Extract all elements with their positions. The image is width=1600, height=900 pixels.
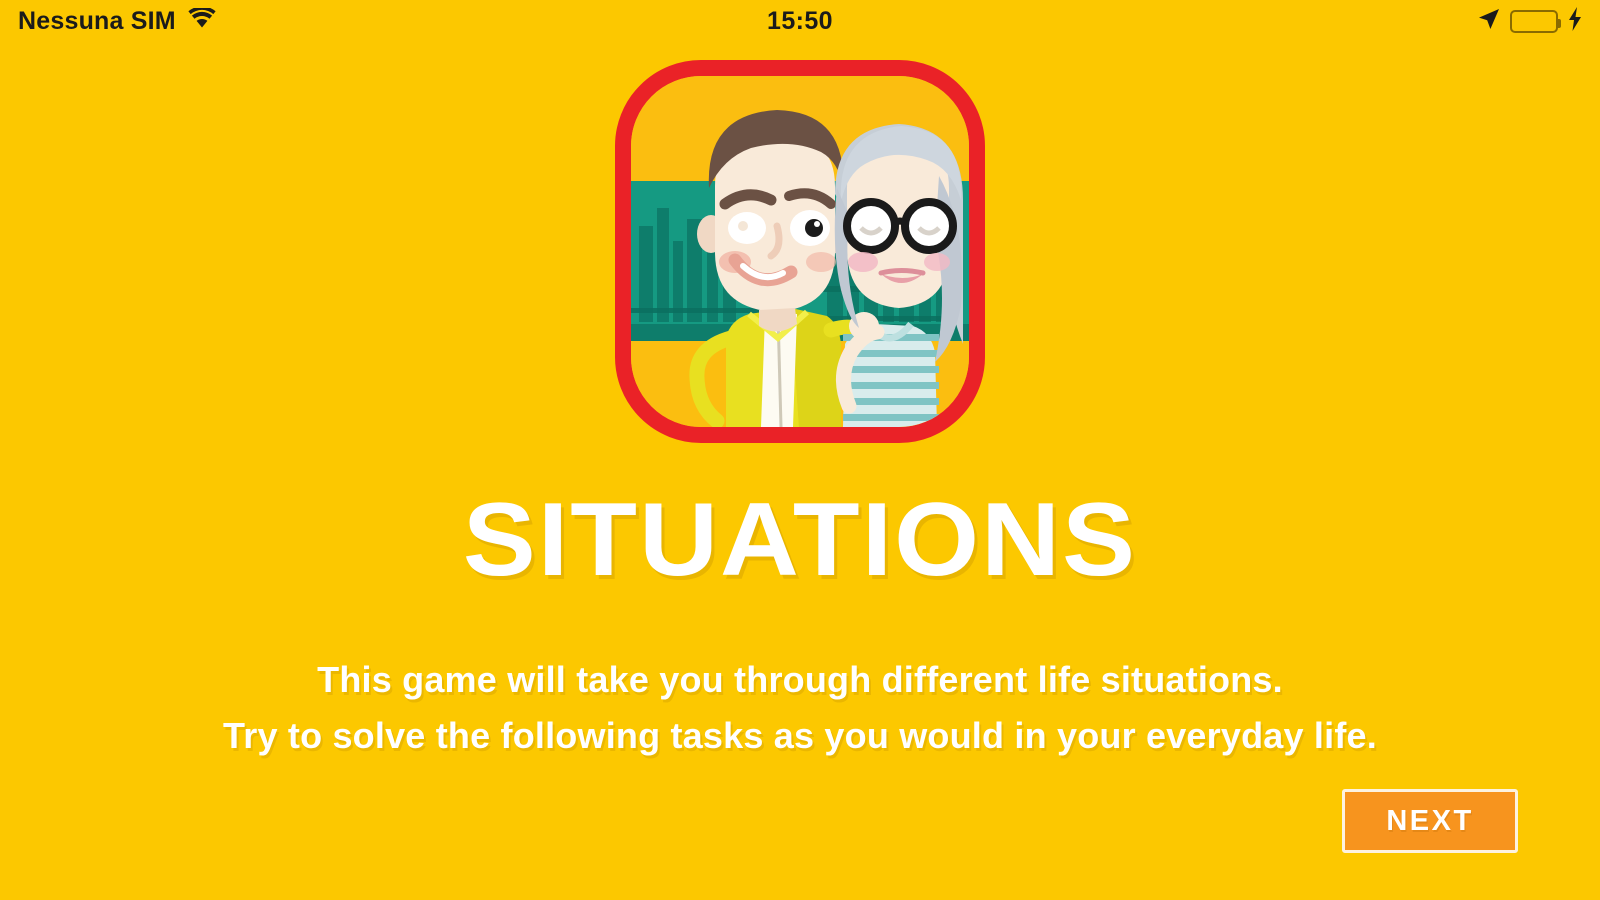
app-screen: Nessuna SIM 15:50 — [0, 0, 1600, 900]
clock-label: 15:50 — [767, 7, 833, 35]
app-icon — [615, 60, 985, 443]
intro-description-line-2: Try to solve the following tasks as you … — [0, 708, 1600, 764]
carrier-label: Nessuna SIM — [18, 7, 176, 36]
app-icon-frame — [615, 60, 985, 443]
status-bar-left: Nessuna SIM — [18, 7, 216, 36]
status-bar-right — [1478, 7, 1582, 36]
status-bar-center: 15:50 — [0, 7, 1600, 36]
intro-description-line-1: This game will take you through differen… — [0, 652, 1600, 708]
app-icon-illustration — [631, 76, 969, 427]
battery-full-icon — [1510, 10, 1558, 33]
page-title: SITUATIONS — [0, 488, 1600, 592]
lightning-bolt-icon — [1568, 7, 1582, 36]
location-arrow-icon — [1478, 8, 1500, 35]
next-button[interactable]: NEXT — [1342, 789, 1518, 853]
intro-description: This game will take you through differen… — [0, 652, 1600, 764]
two-characters-illustration — [631, 76, 969, 427]
status-bar: Nessuna SIM 15:50 — [0, 0, 1600, 42]
wifi-icon — [188, 8, 216, 34]
